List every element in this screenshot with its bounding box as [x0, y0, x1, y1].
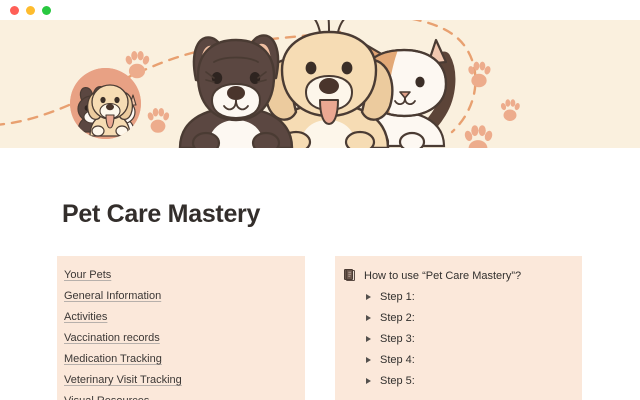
chevron-right-icon[interactable] — [366, 378, 371, 384]
close-button[interactable] — [10, 6, 19, 15]
nav-row: Visual Resources — [64, 391, 305, 400]
toggle-step-4[interactable]: Step 4: — [344, 349, 582, 370]
nav-row: Your Pets — [64, 265, 305, 286]
how-to-use-panel: How to use “Pet Care Mastery”? Step 1: S… — [335, 256, 582, 400]
how-to-use-title: How to use “Pet Care Mastery”? — [364, 270, 521, 282]
toggle-step-5[interactable]: Step 5: — [344, 370, 582, 391]
step-label: Step 4: — [380, 354, 415, 366]
sidebar-item-medication-tracking[interactable]: Medication Tracking — [64, 349, 162, 370]
navigation-panel: Your Pets General Information Activities… — [57, 256, 305, 400]
page-body: Pet Care Mastery Your Pets General Infor… — [0, 200, 640, 400]
step-label: Step 2: — [380, 312, 415, 324]
sidebar-item-vaccination-records[interactable]: Vaccination records — [64, 328, 160, 349]
toggle-step-2[interactable]: Step 2: — [344, 307, 582, 328]
step-label: Step 5: — [380, 375, 415, 387]
nav-row: Activities — [64, 307, 305, 328]
chevron-right-icon[interactable] — [366, 315, 371, 321]
sidebar-item-activities[interactable]: Activities — [64, 307, 107, 328]
sidebar-item-general-information[interactable]: General Information — [64, 286, 161, 307]
minimize-button[interactable] — [26, 6, 35, 15]
how-to-use-header: How to use “Pet Care Mastery”? — [344, 265, 582, 286]
nav-row: General Information — [64, 286, 305, 307]
content-columns: Your Pets General Information Activities… — [0, 256, 640, 400]
sidebar-item-visual-resources[interactable]: Visual Resources — [64, 391, 149, 400]
step-label: Step 3: — [380, 333, 415, 345]
sidebar-item-veterinary-visit-tracking[interactable]: Veterinary Visit Tracking — [64, 370, 182, 391]
sidebar-item-your-pets[interactable]: Your Pets — [64, 265, 111, 286]
chevron-right-icon[interactable] — [366, 357, 371, 363]
page-title: Pet Care Mastery — [62, 200, 640, 229]
toggle-step-1[interactable]: Step 1: — [344, 286, 582, 307]
maximize-button[interactable] — [42, 6, 51, 15]
chevron-right-icon[interactable] — [366, 336, 371, 342]
notebook-icon — [344, 269, 356, 282]
chevron-right-icon[interactable] — [366, 294, 371, 300]
step-label: Step 1: — [380, 291, 415, 303]
window-titlebar — [0, 0, 640, 20]
pets-circle-icon[interactable] — [70, 68, 141, 139]
toggle-step-3[interactable]: Step 3: — [344, 328, 582, 349]
nav-row: Vaccination records — [64, 328, 305, 349]
nav-row: Medication Tracking — [64, 349, 305, 370]
nav-row: Veterinary Visit Tracking — [64, 370, 305, 391]
